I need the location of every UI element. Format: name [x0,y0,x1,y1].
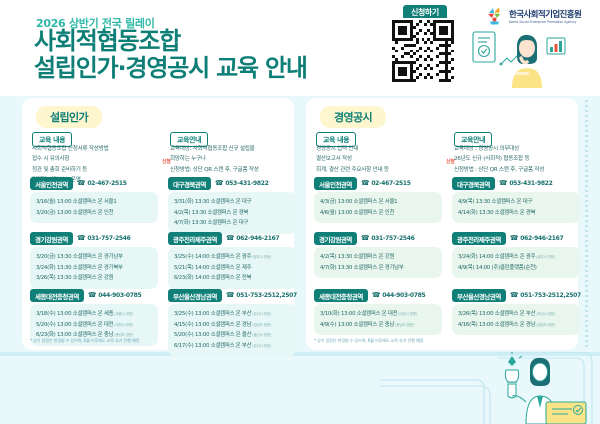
schedule-text: 3/25(수) 14:00 소셜캠퍼스 온 광주 [174,254,251,260]
region-name-badge: 서울인천권역 [314,177,357,190]
panel-tag: 경영공시 [320,106,386,128]
section-guide-text: 교육대상 : 경영공시 의무대상 26년도 신규 (사회적) 협동조합 등 신청… [454,144,578,175]
schedule-note: (대전시 방문) [397,312,417,316]
region-name-badge: 세종대전충청권역 [314,289,368,302]
schedule-note: (충남도 방문) [113,333,133,337]
schedule-text: 4/2(목) 13:30 소셜캠퍼스 온 강원 [320,254,394,260]
region-schedule-list: 3/25(수) 13:00 소셜캠퍼스 온 부산 (부산시 방문)4/15(수)… [168,304,296,356]
schedule-text: 3/26(목) 13:30 소셜캠퍼스 온 강원 [36,275,113,281]
schedule-row: 3/31(화) 13:30 소셜캠퍼스 온 대구 [174,197,290,208]
region-header: 부산울산경남권역☎051-753-2512,2507 [452,290,580,301]
schedule-row: 4/16(목) 13:00 소셜캠퍼스 온 경남 (경남도 방문) [458,320,574,331]
schedule-text: 3/10(화) 13:00 소셜캠퍼스 온 대전 [320,311,397,317]
schedule-row: 4/3(금) 13:00 소셜캠퍼스 온 서울1 [320,197,436,208]
schedule-row: 3/24(화) 14:00 소셜캠퍼스 온 광주 (광주시 방문) [458,252,574,263]
schedule-note: (경남도 방문) [251,323,271,327]
highlight-mark: 신청 [162,160,171,166]
region-phone-number: 053-431-9822 [225,180,268,187]
schedule-text: 3/31(화) 13:30 소셜캠퍼스 온 대구 [174,199,251,205]
agency-logo-text: 한국사회적기업진흥원 Korea Social Enterprise Promo… [509,8,581,24]
region-schedule-list: 3/31(화) 13:30 소셜캠퍼스 온 대구4/2(목) 13:30 소셜캠… [168,192,296,234]
schedule-text: 3/16(월) 13:00 소셜캠퍼스 온 서울1 [36,199,117,205]
schedule-text: 4/7(화) 13:30 소셜캠퍼스 온 경기남부 [320,265,404,271]
region-phone[interactable]: ☎031-757-2546 [77,235,131,242]
schedule-row: 4/7(화) 13:30 소셜캠퍼스 온 경기남부 [320,263,436,274]
region-name-badge: 경기강원권역 [314,232,357,245]
region-phone[interactable]: ☎044-903-0785 [372,292,426,299]
schedule-row: 6/17(수) 13:00 소셜캠퍼스 온 부산 (부산시 방문) [174,341,290,352]
region-header: 서울인천권역☎02-467-2515 [30,178,158,189]
region-name-badge: 광주전라제주권역 [452,232,506,245]
schedule-text: 6/17(수) 13:00 소셜캠퍼스 온 부산 [174,343,251,349]
phone-icon: ☎ [77,180,85,187]
region-card: 경기강원권역☎031-757-25463/20(금) 13:30 소셜캠퍼스 온… [30,233,158,289]
region-card: 부산울산경남권역☎051-753-2512,25073/25(수) 13:00 … [168,290,296,356]
region-phone-number: 051-753-2512,2507 [520,292,581,299]
schedule-note: (대전시 방문) [113,323,133,327]
section-content-text: 경영공시 입력 안내 결산보고서 작성 회계, 결산 관련 주요사항 안내 등 [316,144,440,175]
schedule-row: 5/20(수) 13:00 소셜캠퍼스 온 울산 (울산시 방문) [174,330,290,341]
schedule-text: 3/18(수) 13:00 소셜캠퍼스 온 세종 [36,311,113,317]
schedule-row: 4/2(목) 13:30 소셜캠퍼스 온 경북 [174,208,290,219]
schedule-text: 3/20(금) 13:30 소셜캠퍼스 온 경기남부 [36,254,123,260]
region-phone-number: 044-903-0785 [382,292,425,299]
region-name-badge: 세종대전충청권역 [30,289,84,302]
region-card: 광주전라제주권역☎062-946-21673/24(화) 14:00 소셜캠퍼스… [452,233,580,278]
schedule-text: 4/9(수) 13:00 소셜캠퍼스 온 충남 [320,322,394,328]
region-phone-number: 02-467-2515 [371,180,410,187]
schedule-text: 3/25(수) 13:00 소셜캠퍼스 온 부산 [174,311,251,317]
region-phone-number: 031-757-2546 [87,235,130,242]
region-header: 대구경북권역☎053-431-9822 [452,178,580,189]
panel-footnote: * 상기 일정은 변경될 수 있으며, 6월 이후에도 교육 추가 진행 예정 [314,338,423,344]
region-schedule-list: 4/2(목) 13:30 소셜캠퍼스 온 강원4/7(화) 13:30 소셜캠퍼… [314,247,442,278]
schedule-note: (부산시 방문) [251,344,271,348]
region-phone[interactable]: ☎02-467-2515 [361,180,411,187]
region-phone-number: 044-903-0785 [98,292,141,299]
schedule-text: 3/20(금) 13:00 소셜캠퍼스 온 인천 [36,210,113,216]
footer-illustration [380,352,600,424]
region-phone-number: 031-757-2546 [371,235,414,242]
highlight-mark: 신청 [446,160,455,166]
schedule-note: (충남도 방문) [394,323,414,327]
panel-establishment: 설립인가교육 내용사회적협동조합 신청서류 작성방법 접수 시 유의사항 정관 … [22,98,294,350]
region-phone[interactable]: ☎053-431-9822 [215,180,269,187]
schedule-text: 5/21(목) 14:00 소셜캠퍼스 온 제주 [174,265,251,271]
region-card: 서울인천권역☎02-467-25153/16(월) 13:00 소셜캠퍼스 온 … [30,178,158,223]
schedule-note: (부산시 방문) [535,312,555,316]
phone-icon: ☎ [361,235,369,242]
phone-icon: ☎ [372,292,380,299]
schedule-text: 3/26(목) 13:00 소셜캠퍼스 온 부산 [458,311,535,317]
panel-tag: 설립인가 [36,106,102,128]
agency-logo-mark [484,6,506,26]
region-phone[interactable]: ☎051-753-2512,2507 [226,292,297,299]
schedule-text: 4/14(화) 13:30 소셜캠퍼스 온 경북 [458,210,535,216]
schedule-text: 4/3(금) 13:00 소셜캠퍼스 온 서울1 [320,199,397,205]
schedule-row: 5/21(목) 14:00 소셜캠퍼스 온 제주 [174,263,290,274]
region-header: 광주전라제주권역☎062-946-2167 [168,233,296,244]
schedule-row: 3/24(화) 13:30 소셜캠퍼스 온 경기북부 [36,263,152,274]
schedule-note: (울산시 방문) [251,333,271,337]
region-schedule-list: 3/26(목) 13:00 소셜캠퍼스 온 부산 (부산시 방문)4/16(목)… [452,304,580,335]
region-phone-number: 051-753-2512,2507 [236,292,297,299]
phone-icon: ☎ [361,180,369,187]
schedule-row: 3/26(목) 13:30 소셜캠퍼스 온 강원 [36,273,152,284]
panel-disclosure: 경영공시교육 내용경영공시 입력 안내 결산보고서 작성 회계, 결산 관련 주… [306,98,578,350]
schedule-row: 5/20(수) 13:00 소셜캠퍼스 온 대전 (대전시 방문) [36,320,152,331]
schedule-row: 3/25(수) 14:00 소셜캠퍼스 온 광주 (광주시 방문) [174,252,290,263]
schedule-row: 4/9(수) 13:00 소셜캠퍼스 온 충남 (충남도 방문) [320,320,436,331]
schedule-text: 3/24(화) 13:30 소셜캠퍼스 온 경기북부 [36,265,123,271]
section-guide-text: 교육대상: 사회적협동조합 신규 설립을 희망하는 누구나 신청방법: 상단 Q… [170,144,294,175]
region-name-badge: 광주전라제주권역 [168,232,222,245]
region-header: 경기강원권역☎031-757-2546 [30,233,158,244]
panel-footnote: * 상기 일정은 변경될 수 있으며, 6월 이후에도 교육 추가 진행 예정 [30,338,139,344]
region-phone[interactable]: ☎044-903-0785 [88,292,142,299]
schedule-text: 4/9(목) 13:30 소셜캠퍼스 온 대구 [458,199,532,205]
schedule-text: 4/16(목) 13:00 소셜캠퍼스 온 경남 [458,322,535,328]
poster-root: 2026 상반기 전국 릴레이 사회적협동조합 설립인가·경영공시 교육 안내 … [0,0,600,424]
region-card: 광주전라제주권역☎062-946-21673/25(수) 14:00 소셜캠퍼스… [168,233,296,289]
schedule-row: 4/6(월) 13:00 소셜캠퍼스 온 인천 [320,208,436,219]
schedule-text: 4/7(화) 13:30 소셜캠퍼스 온 대구 [174,220,248,226]
region-phone[interactable]: ☎062-946-2167 [226,235,280,242]
schedule-row: 3/20(금) 13:30 소셜캠퍼스 온 경기남부 [36,252,152,263]
page-title-line2: 설립인가·경영공시 교육 안내 [34,56,307,81]
schedule-row: 3/16(월) 13:00 소셜캠퍼스 온 서울1 [36,197,152,208]
schedule-row: 4/15(수) 13:00 소셜캠퍼스 온 경남 (경남도 방문) [174,320,290,331]
schedule-row: 3/10(화) 13:00 소셜캠퍼스 온 대전 (대전시 방문) [320,309,436,320]
region-card: 경기강원권역☎031-757-25464/2(목) 13:30 소셜캠퍼스 온 … [314,233,442,278]
region-phone-number: 062-946-2167 [236,235,279,242]
region-card: 세종대전충청권역☎044-903-07853/10(화) 13:00 소셜캠퍼스… [314,290,442,335]
agency-logo: 한국사회적기업진흥원 Korea Social Enterprise Promo… [484,6,581,26]
schedule-text: 4/6(월) 13:00 소셜캠퍼스 온 인천 [320,210,394,216]
schedule-note: (세종시 방문) [113,312,133,316]
schedule-row: 3/26(목) 13:00 소셜캠퍼스 온 부산 (부산시 방문) [458,309,574,320]
region-phone-number: 062-946-2167 [520,235,563,242]
region-schedule-list: 4/9(목) 13:30 소셜캠퍼스 온 대구4/14(화) 13:30 소셜캠… [452,192,580,223]
region-phone-number: 053-431-9822 [509,180,552,187]
region-phone[interactable]: ☎02-467-2515 [77,180,127,187]
schedule-note: (광주시 방문) [535,255,555,259]
schedule-text: 4/15(수) 13:00 소셜캠퍼스 온 경남 [174,322,251,328]
phone-icon: ☎ [510,292,518,299]
region-schedule-list: 3/20(금) 13:30 소셜캠퍼스 온 경기남부3/24(화) 13:30 … [30,247,158,289]
region-name-badge: 부산울산경남권역 [168,289,222,302]
region-header: 경기강원권역☎031-757-2546 [314,233,442,244]
phone-icon: ☎ [88,292,96,299]
schedule-row: 4/9(목) 13:30 소셜캠퍼스 온 대구 [458,197,574,208]
region-name-badge: 대구경북권역 [168,177,211,190]
schedule-row: 3/18(수) 13:00 소셜캠퍼스 온 세종 (세종시 방문) [36,309,152,320]
qr-code[interactable] [390,18,456,84]
region-schedule-list: 3/16(월) 13:00 소셜캠퍼스 온 서울13/20(금) 13:00 소… [30,192,158,223]
page-title-line1: 사회적협동조합 [34,29,180,54]
agency-name-ko: 한국사회적기업진흥원 [509,8,581,20]
region-phone[interactable]: ☎053-431-9822 [499,180,553,187]
schedule-row: 4/2(목) 13:30 소셜캠퍼스 온 강원 [320,252,436,263]
region-name-badge: 경기강원권역 [30,232,73,245]
region-header: 부산울산경남권역☎051-753-2512,2507 [168,290,296,301]
phone-icon: ☎ [499,180,507,187]
decorative-dots [585,100,588,350]
region-schedule-list: 3/25(수) 14:00 소셜캠퍼스 온 광주 (광주시 방문)5/21(목)… [168,247,296,289]
schedule-text: 5/20(수) 13:00 소셜캠퍼스 온 대전 [36,322,113,328]
phone-icon: ☎ [215,180,223,187]
region-phone-number: 02-467-2515 [87,180,126,187]
phone-icon: ☎ [77,235,85,242]
region-schedule-list: 4/3(금) 13:00 소셜캠퍼스 온 서울14/6(월) 13:00 소셜캠… [314,192,442,223]
schedule-row: 3/25(수) 13:00 소셜캠퍼스 온 부산 (부산시 방문) [174,309,290,320]
region-phone[interactable]: ☎051-753-2512,2507 [510,292,581,299]
schedule-text: 5/20(수) 13:00 소셜캠퍼스 온 울산 [174,332,251,338]
region-header: 광주전라제주권역☎062-946-2167 [452,233,580,244]
schedule-row: 4/9(목) 14:00 (주)클린플랫폼(순천) [458,263,574,274]
region-phone[interactable]: ☎031-757-2546 [361,235,415,242]
region-phone[interactable]: ☎062-946-2167 [510,235,564,242]
region-name-badge: 서울인천권역 [30,177,73,190]
region-schedule-list: 3/24(화) 14:00 소셜캠퍼스 온 광주 (광주시 방문)4/9(목) … [452,247,580,278]
region-name-badge: 부산울산경남권역 [452,289,506,302]
schedule-row: 4/7(화) 13:30 소셜캠퍼스 온 대구 [174,218,290,229]
schedule-text: 4/9(목) 14:00 (주)클린플랫폼(순천) [458,265,537,271]
schedule-row: 6/23(화) 14:00 소셜캠퍼스 온 전북 [174,273,290,284]
schedule-text: 4/2(목) 13:30 소셜캠퍼스 온 경북 [174,210,248,216]
region-header: 세종대전충청권역☎044-903-0785 [314,290,442,301]
header-illustration [455,24,575,88]
region-card: 서울인천권역☎02-467-25154/3(금) 13:00 소셜캠퍼스 온 서… [314,178,442,223]
region-card: 대구경북권역☎053-431-98223/31(화) 13:30 소셜캠퍼스 온… [168,178,296,234]
region-header: 대구경북권역☎053-431-9822 [168,178,296,189]
region-header: 세종대전충청권역☎044-903-0785 [30,290,158,301]
phone-icon: ☎ [226,235,234,242]
schedule-note: (부산시 방문) [251,312,271,316]
region-card: 부산울산경남권역☎051-753-2512,25073/26(목) 13:00 … [452,290,580,335]
region-name-badge: 대구경북권역 [452,177,495,190]
schedule-note: (광주시 방문) [251,255,271,259]
phone-icon: ☎ [226,292,234,299]
qr-code-grid [392,20,454,82]
region-header: 서울인천권역☎02-467-2515 [314,178,442,189]
phone-icon: ☎ [510,235,518,242]
schedule-note: (경남도 방문) [535,323,555,327]
region-schedule-list: 3/10(화) 13:00 소셜캠퍼스 온 대전 (대전시 방문)4/9(수) … [314,304,442,335]
schedule-row: 4/14(화) 13:30 소셜캠퍼스 온 경북 [458,208,574,219]
schedule-text: 3/24(화) 14:00 소셜캠퍼스 온 광주 [458,254,535,260]
region-card: 대구경북권역☎053-431-98224/9(목) 13:30 소셜캠퍼스 온 … [452,178,580,223]
schedule-row: 3/20(금) 13:00 소셜캠퍼스 온 인천 [36,208,152,219]
schedule-text: 6/23(화) 14:00 소셜캠퍼스 온 전북 [174,275,251,281]
